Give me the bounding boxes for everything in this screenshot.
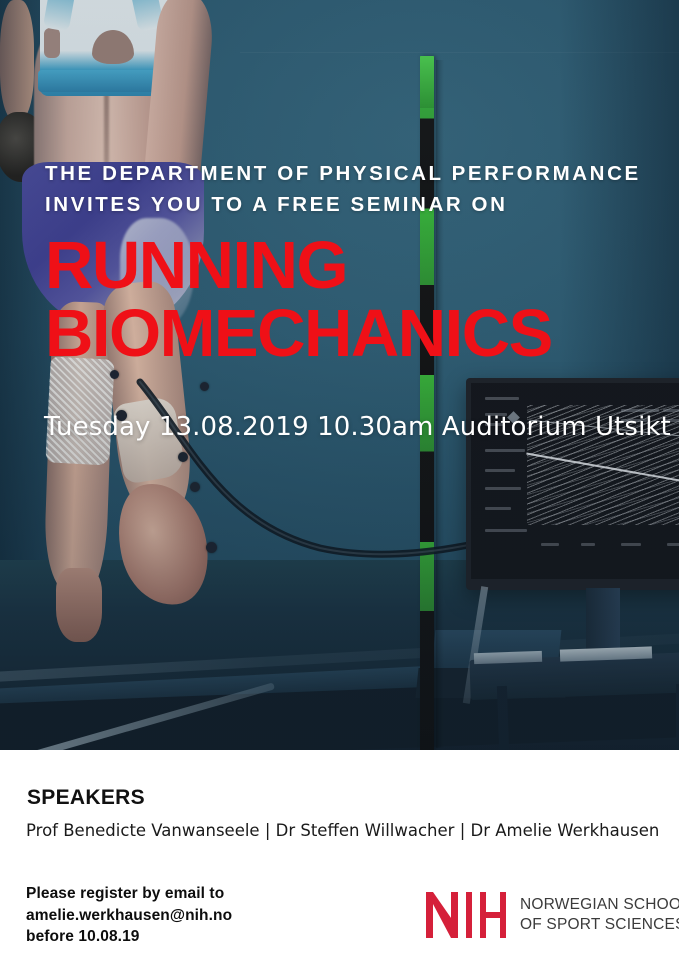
registration-line-1: Please register by email to (26, 883, 232, 905)
ultrasound-ui-label (485, 529, 527, 532)
calibration-pole-green-cap (420, 56, 434, 108)
kicker-line-1: THE DEPARTMENT OF PHYSICAL PERFORMANCE (45, 158, 655, 189)
ultrasound-ui-label (485, 449, 525, 452)
registration-deadline: before 10.08.19 (26, 926, 232, 948)
motion-marker (110, 370, 119, 379)
hero-photo (0, 0, 679, 750)
ultrasound-monitor (466, 378, 679, 590)
seminar-poster: THE DEPARTMENT OF PHYSICAL PERFORMANCE I… (0, 0, 679, 963)
kicker-line-2: INVITES YOU TO A FREE SEMINAR ON (45, 189, 655, 220)
speakers-names: Prof Benedicte Vanwanseele | Dr Steffen … (26, 821, 659, 840)
ultrasound-ui-label (485, 397, 519, 400)
calf-mesh-wrap (45, 356, 114, 465)
nih-logo-mark-icon (424, 890, 510, 940)
ultrasound-ui-label (667, 543, 679, 546)
page-title: RUNNING BIOMECHANICS (45, 232, 665, 368)
nih-logo-name-line-2: OF SPORT SCIENCES (520, 915, 679, 935)
runner-right-arm (0, 0, 34, 120)
title-line-1: RUNNING (45, 232, 665, 300)
sports-bra-cutout-side (44, 28, 60, 58)
event-datetime-location: Tuesday 13.08.2019 10.30am Auditorium Ut… (44, 412, 671, 442)
poster-footer: SPEAKERS Prof Benedicte Vanwanseele | Dr… (0, 750, 679, 963)
ultrasound-ui-label (621, 543, 641, 546)
ultrasound-ui-label (485, 487, 521, 490)
nih-logo: NORWEGIAN SCHOOL OF SPORT SCIENCES (424, 890, 664, 946)
poster-kicker: THE DEPARTMENT OF PHYSICAL PERFORMANCE I… (45, 158, 655, 220)
ultrasound-ui-label (541, 543, 559, 546)
registration-email[interactable]: amelie.werkhausen@nih.no (26, 905, 232, 927)
nih-logo-name: NORWEGIAN SCHOOL OF SPORT SCIENCES (520, 895, 679, 935)
ultrasound-ui-label (485, 507, 511, 510)
ultrasound-ui-label (485, 469, 515, 472)
nih-logo-name-line-1: NORWEGIAN SCHOOL (520, 895, 679, 915)
runner-left-foot (56, 568, 102, 642)
ultrasound-ui-label (581, 543, 595, 546)
title-line-2: BIOMECHANICS (45, 300, 665, 368)
speakers-heading: SPEAKERS (27, 786, 145, 810)
registration-info: Please register by email to amelie.werkh… (26, 883, 232, 948)
